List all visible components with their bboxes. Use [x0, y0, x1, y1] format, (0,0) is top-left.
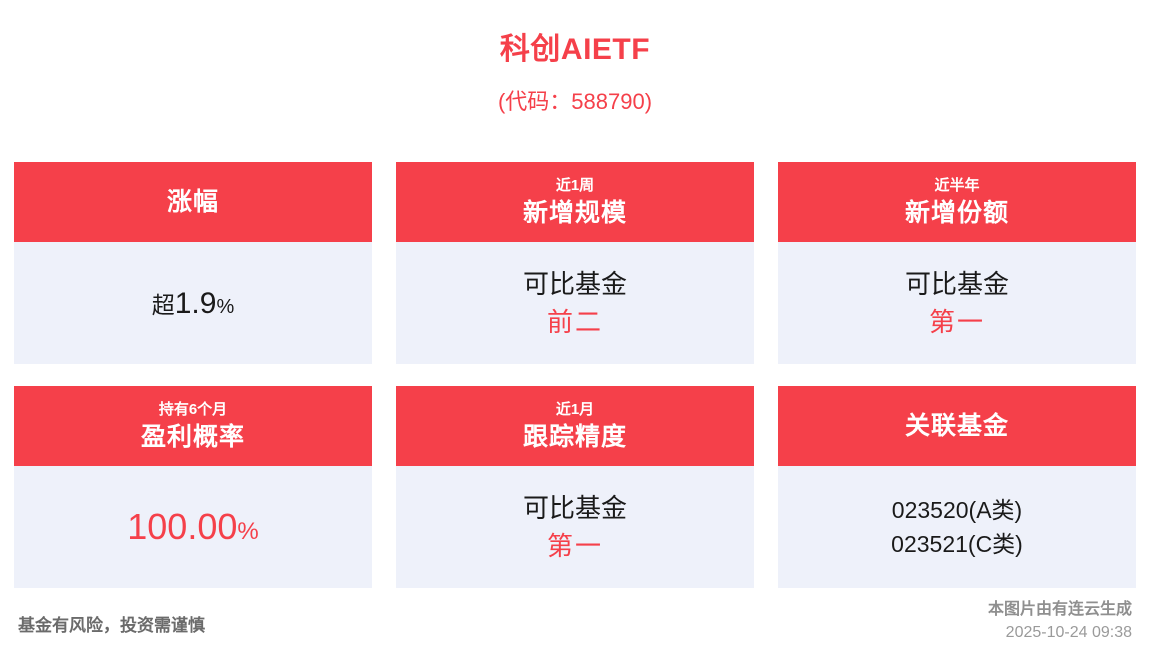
related-fund-code-c: 023521(C类)	[891, 527, 1023, 561]
metric-card-new-scale: 近1周 新增规模 可比基金 前二	[396, 162, 754, 364]
footer-credit: 本图片由有连云生成 2025-10-24 09:38	[988, 598, 1132, 644]
metric-card-new-scale-title: 新增规模	[523, 197, 627, 229]
metric-card-related-funds: 关联基金 023520(A类) 023521(C类)	[778, 386, 1136, 588]
metric-card-new-shares-line1: 可比基金	[905, 265, 1009, 303]
metric-card-change-number: 1.9	[175, 287, 217, 320]
metric-card-new-shares-body: 可比基金 第一	[778, 242, 1136, 364]
metric-card-new-shares-period: 近半年	[934, 175, 979, 197]
metric-card-new-scale-body: 可比基金 前二	[396, 242, 754, 364]
metric-card-new-shares-title: 新增份额	[905, 197, 1009, 229]
metric-card-new-shares: 近半年 新增份额 可比基金 第一	[778, 162, 1136, 364]
metric-card-change-value: 超1.9%	[152, 286, 235, 321]
metric-card-new-scale-line2: 前二	[547, 303, 603, 341]
metric-card-related-funds-header: 关联基金	[778, 386, 1136, 466]
metric-card-tracking-accuracy-period: 近1月	[556, 399, 594, 421]
metric-card-new-shares-line2: 第一	[929, 303, 985, 341]
metric-card-tracking-accuracy: 近1月 跟踪精度 可比基金 第一	[396, 386, 754, 588]
metric-card-tracking-accuracy-body: 可比基金 第一	[396, 466, 754, 588]
metric-card-tracking-accuracy-line2: 第一	[547, 527, 603, 565]
metric-card-profit-probability-suffix: %	[237, 518, 258, 545]
metric-card-tracking-accuracy-title: 跟踪精度	[523, 421, 627, 453]
metric-card-new-scale-line1: 可比基金	[523, 265, 627, 303]
metric-card-new-scale-header: 近1周 新增规模	[396, 162, 754, 242]
metric-card-profit-probability-body: 100.00%	[14, 466, 372, 588]
metric-card-profit-probability-title: 盈利概率	[141, 421, 245, 453]
metric-card-related-funds-title: 关联基金	[905, 410, 1009, 442]
metric-card-change-suffix: %	[216, 296, 234, 318]
metric-card-tracking-accuracy-header: 近1月 跟踪精度	[396, 386, 754, 466]
metric-card-profit-probability-period: 持有6个月	[159, 399, 227, 421]
risk-disclaimer: 基金有风险，投资需谨慎	[18, 611, 205, 636]
metric-card-change-title: 涨幅	[167, 186, 219, 218]
metric-card-change-prefix: 超	[152, 292, 175, 318]
metric-card-profit-probability-value: 100.00%	[127, 506, 258, 548]
metric-card-change-body: 超1.9%	[14, 242, 372, 364]
footer-timestamp: 2025-10-24 09:38	[988, 621, 1132, 644]
metric-card-profit-probability: 持有6个月 盈利概率 100.00%	[14, 386, 372, 588]
footer-brand: 本图片由有连云生成	[988, 598, 1132, 621]
metric-card-new-shares-header: 近半年 新增份额	[778, 162, 1136, 242]
metric-card-tracking-accuracy-line1: 可比基金	[523, 489, 627, 527]
metric-card-change-header: 涨幅	[14, 162, 372, 242]
page-subtitle: (代码：588790)	[0, 84, 1150, 116]
related-fund-code-a: 023520(A类)	[892, 493, 1022, 527]
page-title: 科创AIETF	[0, 24, 1150, 68]
metric-card-profit-probability-number: 100.00	[127, 506, 237, 547]
metric-card-profit-probability-header: 持有6个月 盈利概率	[14, 386, 372, 466]
metric-card-new-scale-period: 近1周	[556, 175, 594, 197]
metrics-grid: 涨幅 超1.9% 近1周 新增规模 可比基金 前二 近半年 新增份额 可比基金 …	[14, 162, 1136, 588]
metric-card-related-funds-body: 023520(A类) 023521(C类)	[778, 466, 1136, 588]
metric-card-change: 涨幅 超1.9%	[14, 162, 372, 364]
